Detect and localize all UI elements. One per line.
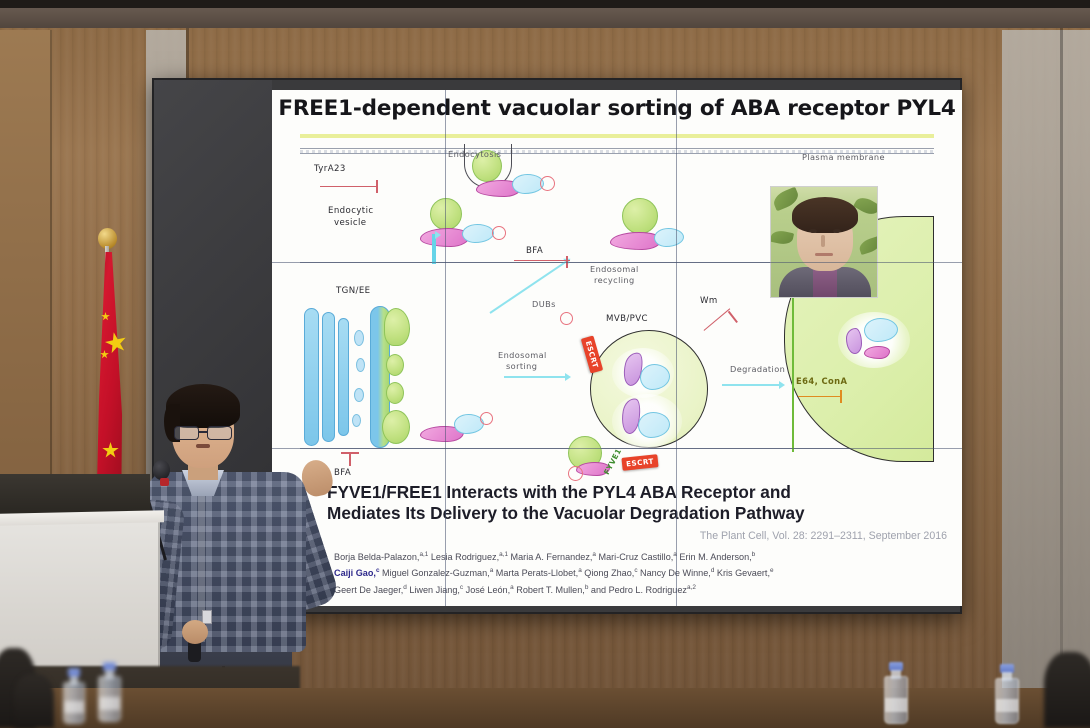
microphone-indicator xyxy=(160,478,169,486)
bfa-bottom-inhibitor xyxy=(340,450,360,466)
author-list: Borja Belda-Palazon,a,1 Lesia Rodriguez,… xyxy=(334,548,944,597)
top-edge-shadow xyxy=(0,0,1090,8)
bottle-body xyxy=(63,682,85,724)
paper-title: FYVE1/FREE1 Interacts with the PYL4 ABA … xyxy=(327,482,947,524)
presenter-left-hand xyxy=(182,620,208,644)
vesicle-upper-right xyxy=(622,198,658,234)
slide-title: FREE1-dependent vacuolar sorting of ABA … xyxy=(272,96,962,121)
label-degradation: Degradation xyxy=(730,364,785,374)
wm-inhibitor xyxy=(704,310,736,340)
presenter-glasses-left-lens xyxy=(174,426,199,440)
portrait-hair xyxy=(792,197,858,233)
portrait-shirt xyxy=(813,269,837,298)
label-tyra23: TyrA23 xyxy=(314,164,346,174)
recycling-up-arrow xyxy=(432,234,436,264)
wall-column-grey-right xyxy=(1002,30,1090,690)
water-bottle-4 xyxy=(995,664,1019,724)
audience-silhouette-3 xyxy=(1044,652,1090,728)
video-tile-seam-v1 xyxy=(445,90,446,606)
endocytic-cargo-blue xyxy=(462,224,494,243)
label-endocytic-vesicle-2: vesicle xyxy=(334,218,366,228)
receptor-ring-4 xyxy=(568,466,583,481)
water-bottle-3 xyxy=(884,662,908,724)
presentation-slide: FREE1-dependent vacuolar sorting of ABA … xyxy=(272,90,962,606)
label-tgn-ee: TGN/EE xyxy=(336,286,371,296)
endocytic-vesicle-shape xyxy=(430,198,462,230)
label-endosomal-sorting-2: sorting xyxy=(506,361,537,371)
label-fyve1: FYVE1 xyxy=(602,447,623,476)
journal-reference: The Plant Cell, Vol. 28: 2291–2311, Sept… xyxy=(327,530,947,542)
receptor-ring-1 xyxy=(540,176,555,191)
video-tile-seam-h2 xyxy=(272,448,962,449)
label-endosomal-sorting-1: Endosomal xyxy=(498,350,547,360)
inset-portrait-photo xyxy=(770,186,878,298)
title-underline xyxy=(300,134,934,138)
label-wm: Wm xyxy=(700,296,718,306)
escrt-badge-2: ESCRT xyxy=(621,454,658,471)
foreground-table xyxy=(0,688,1090,728)
bottle-body xyxy=(884,676,908,724)
vacuole-cargo-pink-2 xyxy=(864,346,890,359)
water-bottle-2 xyxy=(98,662,121,722)
receptor-ring-3 xyxy=(480,412,493,425)
paper-title-line-2: Mediates Its Delivery to the Vacuolar De… xyxy=(327,503,947,524)
degradation-arrow xyxy=(722,384,780,386)
label-endosomal-recycling-2: recycling xyxy=(594,275,635,285)
vacuole-cargo-purple xyxy=(846,328,862,354)
wall-seam-right xyxy=(1060,28,1063,728)
cargo-blue-upper-right xyxy=(654,228,684,247)
label-mvb-pvc: MVB/PVC xyxy=(606,314,648,324)
video-tile-seam-v2 xyxy=(676,90,677,606)
label-endosomal-recycling-1: Endosomal xyxy=(590,264,639,274)
paper-title-line-1: FYVE1/FREE1 Interacts with the PYL4 ABA … xyxy=(327,482,947,503)
label-endocytic-vesicle-1: Endocytic xyxy=(328,206,373,216)
endosomal-sorting-arrow xyxy=(504,376,566,378)
bottle-body xyxy=(98,676,121,722)
label-plasma-membrane: Plasma membrane xyxy=(802,152,885,162)
presenter-glasses-right-lens xyxy=(207,426,232,440)
presentation-scene: FREE1-dependent vacuolar sorting of ABA … xyxy=(0,0,1090,728)
presenter-glasses-bridge xyxy=(199,431,207,433)
label-bfa-top: BFA xyxy=(526,246,543,256)
label-bfa-bottom: BFA xyxy=(334,468,351,478)
video-tile-seam-h1 xyxy=(272,262,962,263)
author-line-2: Caiji Gao,c Miguel Gonzalez-Guzman,a Mar… xyxy=(334,564,944,580)
dub-receptor-ring xyxy=(560,312,573,325)
highlighted-author: Caiji Gao, xyxy=(334,568,376,578)
tyra23-inhibitor-arrow xyxy=(320,180,384,194)
label-e64-cona: E64, ConA xyxy=(796,376,847,386)
bottle-body xyxy=(995,678,1019,724)
water-bottle-1 xyxy=(63,668,85,724)
label-dubs: DUBs xyxy=(532,299,556,309)
presenter-mouth xyxy=(196,444,210,448)
author-line-3: Geert De Jaeger,d Liwen Jiang,c José Leó… xyxy=(334,581,944,597)
e64-cona-inhibitor xyxy=(798,390,846,404)
receptor-ring-2 xyxy=(492,226,506,240)
audience-silhouette-2 xyxy=(14,674,54,728)
podium-dark-base xyxy=(0,474,150,514)
microphone-head xyxy=(153,460,170,480)
presenter-badge xyxy=(202,610,212,624)
label-endocytosis: Endocytosis xyxy=(448,149,501,159)
author-line-1: Borja Belda-Palazon,a,1 Lesia Rodriguez,… xyxy=(334,548,944,564)
